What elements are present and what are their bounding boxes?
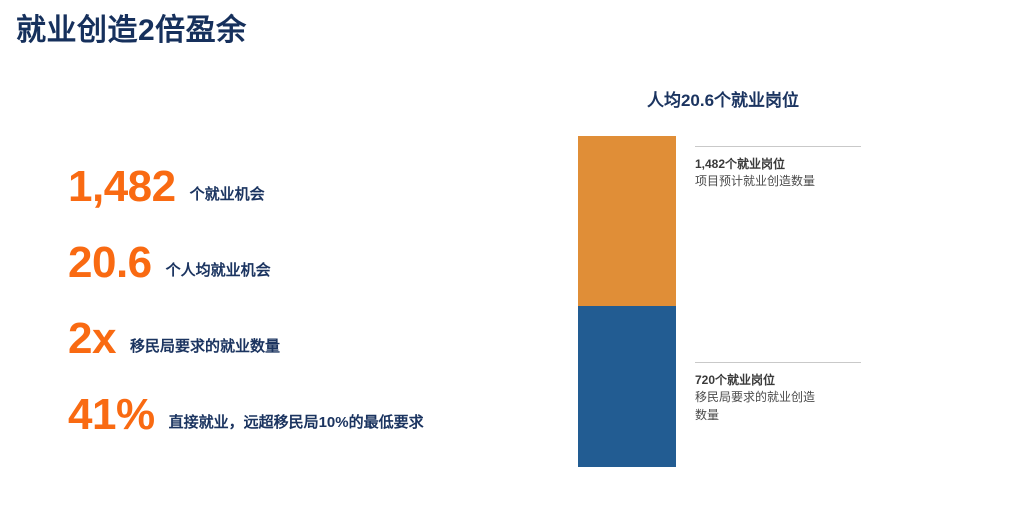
callout-description: 移民局要求的就业创造数量 xyxy=(695,389,815,424)
stat-label: 移民局要求的就业数量 xyxy=(130,338,280,356)
chart-callout-upper: 1,482个就业岗位 项目预计就业创造数量 xyxy=(695,146,865,191)
bar-segment-required xyxy=(578,306,676,467)
stat-value: 20.6 xyxy=(68,241,152,285)
stat-label: 个就业机会 xyxy=(190,186,265,204)
stat-row: 2x 移民局要求的就业数量 xyxy=(68,317,548,393)
stat-label: 直接就业，远超移民局10%的最低要求 xyxy=(169,414,424,432)
stacked-bar-chart xyxy=(578,136,676,467)
stat-label: 个人均就业机会 xyxy=(166,262,271,280)
page-title: 就业创造2倍盈余 xyxy=(16,12,247,50)
callout-divider xyxy=(695,362,861,363)
callout-description: 项目预计就业创造数量 xyxy=(695,173,815,190)
chart-title: 人均20.6个就业岗位 xyxy=(578,86,868,111)
stats-list: 1,482 个就业机会 20.6 个人均就业机会 2x 移民局要求的就业数量 4… xyxy=(68,165,548,469)
callout-title: 1,482个就业岗位 xyxy=(695,156,865,173)
chart-callout-lower: 720个就业岗位 移民局要求的就业创造数量 xyxy=(695,362,865,424)
stat-value: 1,482 xyxy=(68,165,176,209)
callout-title: 720个就业岗位 xyxy=(695,372,865,389)
stat-row: 20.6 个人均就业机会 xyxy=(68,241,548,317)
stat-row: 1,482 个就业机会 xyxy=(68,165,548,241)
stat-row: 41% 直接就业，远超移民局10%的最低要求 xyxy=(68,393,548,469)
stat-value: 2x xyxy=(68,317,116,361)
bar-segment-surplus xyxy=(578,136,676,306)
stat-value: 41% xyxy=(68,393,155,437)
callout-divider xyxy=(695,146,861,147)
slide-canvas: 就业创造2倍盈余 1,482 个就业机会 20.6 个人均就业机会 2x 移民局… xyxy=(0,0,1016,505)
